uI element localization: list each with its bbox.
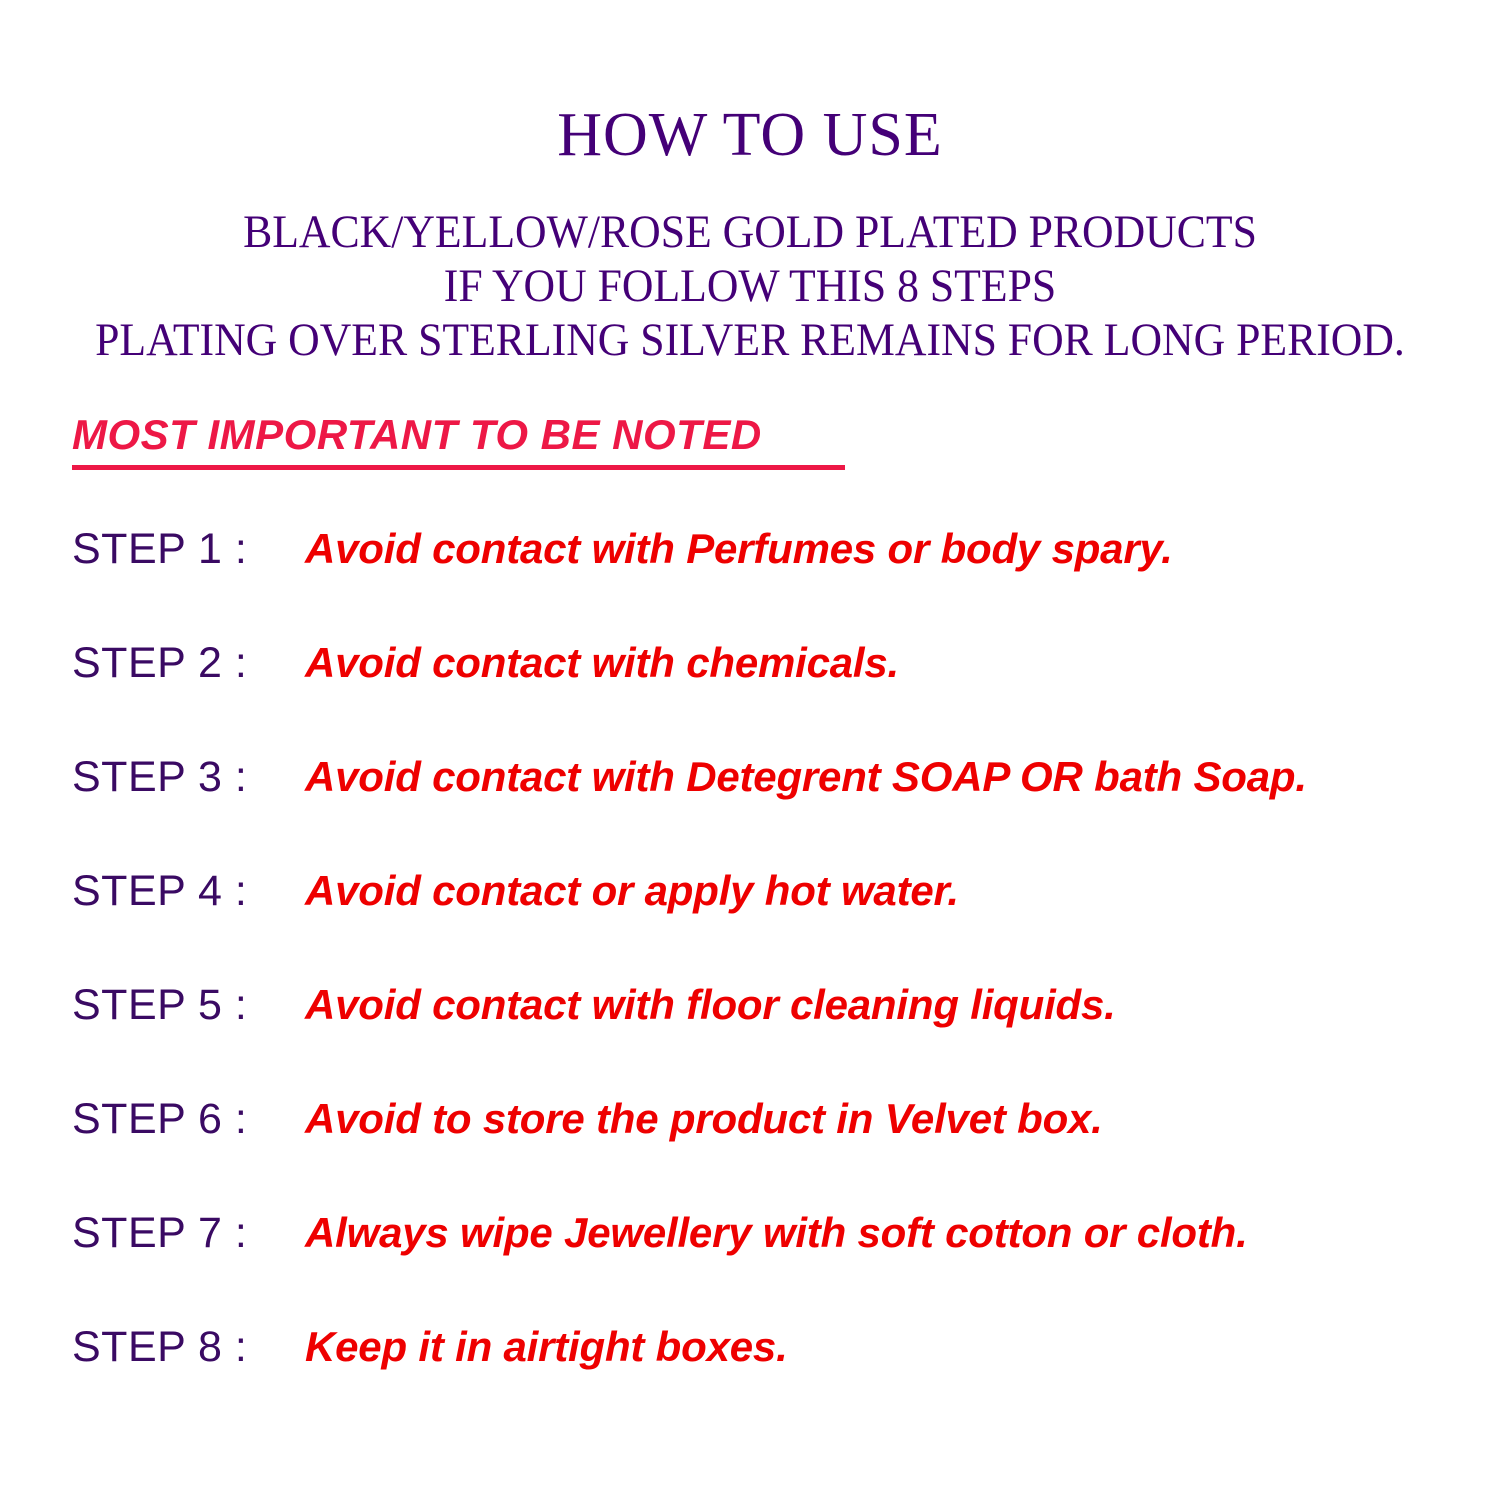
step-text: Avoid contact with Perfumes or body spar…: [305, 524, 1173, 574]
notice-heading-underline: [72, 465, 845, 470]
step-row: STEP 5 : Avoid contact with floor cleani…: [0, 980, 1500, 1094]
notice-heading-block: MOST IMPORTANT TO BE NOTED: [72, 412, 845, 470]
step-row: STEP 1 : Avoid contact with Perfumes or …: [0, 524, 1500, 638]
steps-list: STEP 1 : Avoid contact with Perfumes or …: [0, 524, 1500, 1436]
step-row: STEP 3 : Avoid contact with Detegrent SO…: [0, 752, 1500, 866]
step-text: Avoid contact with chemicals.: [305, 638, 899, 688]
subtitle-line-plating-durability: PLATING OVER STERLING SILVER REMAINS FOR…: [53, 313, 1448, 367]
page-title: HOW TO USE: [0, 104, 1500, 166]
step-row: STEP 8 : Keep it in airtight boxes.: [0, 1322, 1500, 1436]
subtitle-line-steps-count: IF YOU FOLLOW THIS 8 STEPS: [53, 259, 1448, 313]
step-label: STEP 8 :: [72, 1322, 247, 1372]
step-text: Avoid contact with Detegrent SOAP OR bat…: [305, 752, 1307, 802]
step-label: STEP 4 :: [72, 866, 247, 916]
how-to-use-instruction-card: { "colors": { "purple_heading": "#440077…: [0, 0, 1500, 1500]
step-label: STEP 5 :: [72, 980, 247, 1030]
step-label: STEP 1 :: [72, 524, 247, 574]
step-text: Avoid contact with floor cleaning liquid…: [305, 980, 1116, 1030]
step-label: STEP 7 :: [72, 1208, 247, 1258]
step-text: Keep it in airtight boxes.: [305, 1322, 788, 1372]
step-text: Avoid contact or apply hot water.: [305, 866, 959, 916]
subtitle-block: BLACK/YELLOW/ROSE GOLD PLATED PRODUCTS I…: [0, 205, 1500, 367]
step-label: STEP 2 :: [72, 638, 247, 688]
step-label: STEP 6 :: [72, 1094, 247, 1144]
step-row: STEP 2 : Avoid contact with chemicals.: [0, 638, 1500, 752]
step-row: STEP 4 : Avoid contact or apply hot wate…: [0, 866, 1500, 980]
step-row: STEP 7 : Always wipe Jewellery with soft…: [0, 1208, 1500, 1322]
notice-heading: MOST IMPORTANT TO BE NOTED: [72, 412, 762, 461]
step-row: STEP 6 : Avoid to store the product in V…: [0, 1094, 1500, 1208]
title-block: HOW TO USE: [0, 104, 1500, 166]
step-label: STEP 3 :: [72, 752, 247, 802]
step-text: Avoid to store the product in Velvet box…: [305, 1094, 1103, 1144]
subtitle-line-products: BLACK/YELLOW/ROSE GOLD PLATED PRODUCTS: [53, 205, 1448, 259]
step-text: Always wipe Jewellery with soft cotton o…: [305, 1208, 1248, 1258]
